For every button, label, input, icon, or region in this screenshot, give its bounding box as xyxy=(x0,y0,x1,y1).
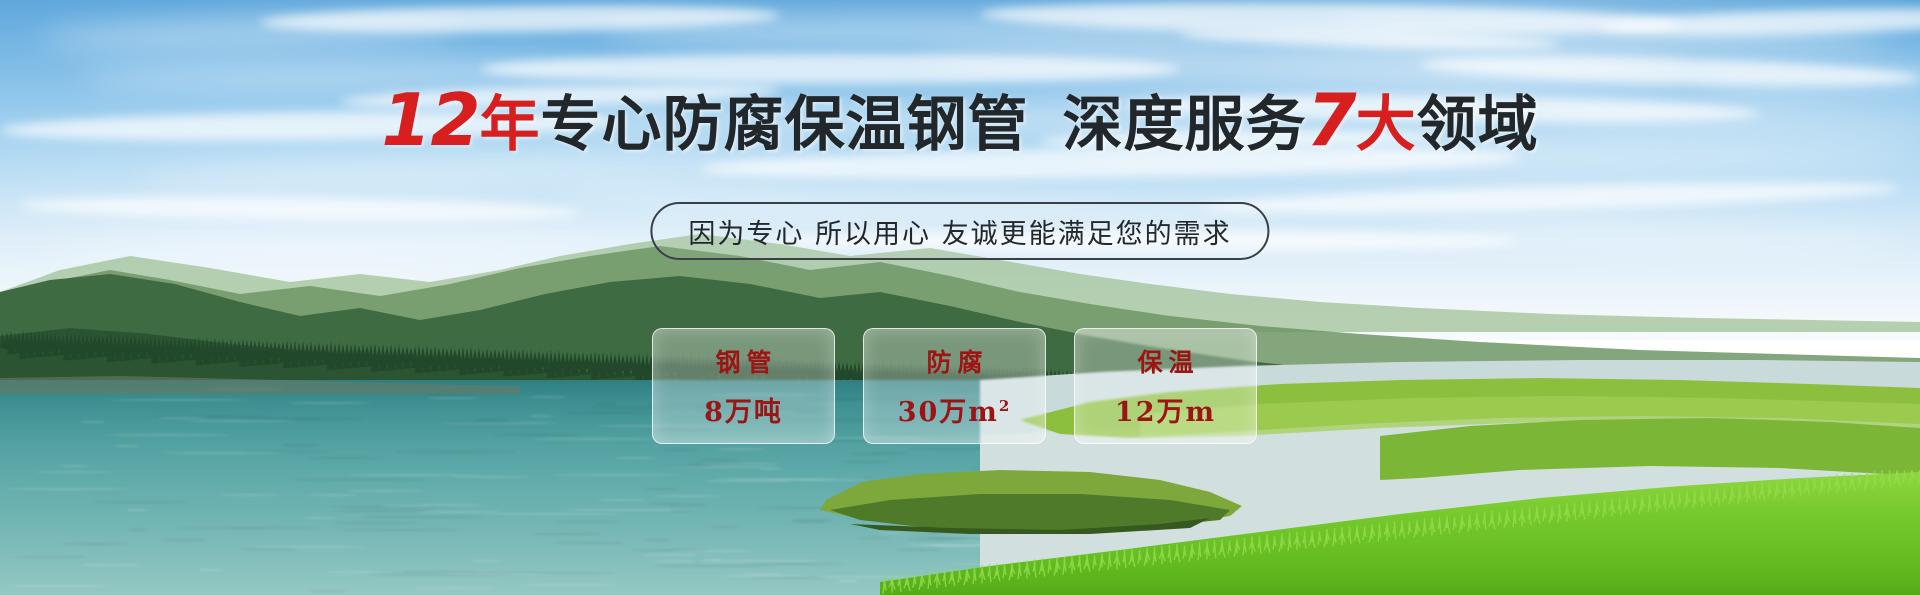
water-ripple xyxy=(653,560,694,562)
stat-label: 保温 xyxy=(1131,343,1199,379)
stat-value-main: 8万吨 xyxy=(704,397,783,428)
water-ripple xyxy=(158,417,208,419)
water-ripple xyxy=(81,564,141,566)
stat-value: 8万吨 xyxy=(704,390,783,429)
water-ripple xyxy=(107,399,248,401)
stat-card-group: 钢管 8万吨 防腐 30万m2 保温 12万m xyxy=(652,328,1257,444)
water-ripple xyxy=(689,463,746,465)
water-ripple xyxy=(653,565,770,567)
left-shoreline xyxy=(0,372,520,394)
water-ripple xyxy=(488,513,619,515)
water-ripple xyxy=(415,511,503,513)
water-ripple xyxy=(644,488,679,490)
water-ripple xyxy=(176,527,321,529)
water-ripple xyxy=(836,580,859,582)
water-ripple xyxy=(310,590,347,592)
stat-value-main: 30万m xyxy=(898,397,999,428)
water-ripple xyxy=(163,452,291,454)
stat-card-steel-pipe[interactable]: 钢管 8万吨 xyxy=(652,328,835,444)
water-ripple xyxy=(614,457,654,459)
water-ripple xyxy=(8,585,109,587)
water-ripple xyxy=(246,546,366,548)
water-ripple xyxy=(474,419,509,421)
water-ripple xyxy=(184,420,296,422)
water-ripple xyxy=(288,402,371,404)
water-ripple xyxy=(105,434,229,436)
water-ripple xyxy=(81,421,105,423)
water-ripple xyxy=(702,559,724,561)
water-ripple xyxy=(345,490,424,492)
water-ripple xyxy=(411,587,497,589)
water-ripple xyxy=(381,505,433,507)
water-ripple xyxy=(160,539,207,541)
water-ripple xyxy=(697,459,741,461)
subtitle-text: 因为专心 所以用心 友诚更能满足您的需求 xyxy=(688,212,1231,251)
water-ripple xyxy=(644,539,671,541)
water-ripple xyxy=(527,396,567,398)
water-ripple xyxy=(711,526,739,528)
water-ripple xyxy=(841,461,891,463)
water-ripple xyxy=(554,521,621,523)
water-ripple xyxy=(759,468,784,470)
water-ripple xyxy=(363,516,485,518)
water-ripple xyxy=(722,575,809,577)
water-ripple xyxy=(198,569,224,571)
water-ripple xyxy=(62,543,129,545)
water-ripple xyxy=(553,542,625,544)
water-ripple xyxy=(114,445,139,447)
water-ripple xyxy=(325,571,408,573)
headline-segment-4: 深度服务 xyxy=(1063,90,1307,160)
water-ripple xyxy=(449,421,520,423)
water-ripple xyxy=(552,474,683,476)
grass-blade-texture xyxy=(880,470,1920,595)
stat-label: 防腐 xyxy=(920,343,988,379)
water-ripple xyxy=(471,560,500,562)
water-ripple xyxy=(332,522,418,524)
water-ripple xyxy=(93,501,188,503)
water-ripple xyxy=(749,577,826,579)
water-ripple xyxy=(219,494,280,496)
water-ripple xyxy=(290,479,428,481)
water-ripple xyxy=(532,438,656,440)
water-ripple xyxy=(239,418,363,420)
stat-value-main: 12万m xyxy=(1115,397,1216,428)
water-ripple xyxy=(366,574,513,576)
water-ripple xyxy=(653,495,721,497)
water-ripple xyxy=(561,509,697,511)
stat-value-superscript: 2 xyxy=(999,397,1011,415)
water-ripple xyxy=(304,517,336,519)
headline-segment-2: 专心防腐保温钢管 xyxy=(541,90,1029,160)
water-ripple xyxy=(530,533,602,535)
water-ripple xyxy=(662,449,699,451)
stat-value: 30万m2 xyxy=(898,390,1012,429)
headline-segment-1: 年 xyxy=(480,90,541,160)
water-ripple xyxy=(14,556,85,558)
water-ripple xyxy=(306,457,384,459)
water-ripple xyxy=(427,397,479,399)
water-ripple xyxy=(596,403,617,405)
water-ripple xyxy=(741,563,843,565)
water-ripple xyxy=(528,415,553,417)
water-ripple xyxy=(282,444,321,446)
headline-segment-6: 大 xyxy=(1356,90,1417,160)
stat-value: 12万m xyxy=(1115,390,1216,429)
water-ripple xyxy=(567,412,666,414)
water-ripple xyxy=(597,499,645,501)
water-ripple xyxy=(35,471,112,473)
stat-card-insulation[interactable]: 保温 12万m xyxy=(1074,328,1257,444)
stat-label: 钢管 xyxy=(709,343,777,379)
water-ripple xyxy=(492,434,580,436)
headline-segment-5: 7 xyxy=(1307,78,1356,162)
water-ripple xyxy=(871,452,908,454)
water-ripple xyxy=(59,465,89,467)
water-ripple xyxy=(631,549,709,551)
water-ripple xyxy=(668,504,708,506)
headline-segment-0: 12 xyxy=(381,78,479,162)
water-ripple xyxy=(307,494,358,496)
headline-segment-7: 领域 xyxy=(1417,90,1539,160)
water-ripple xyxy=(641,554,698,556)
water-ripple xyxy=(520,584,619,586)
subtitle-pill: 因为专心 所以用心 友诚更能满足您的需求 xyxy=(650,202,1269,260)
page-title: 12年专心防腐保温钢管深度服务7大领域 xyxy=(0,84,1920,156)
stat-card-anticorrosion[interactable]: 防腐 30万m2 xyxy=(863,328,1046,444)
water-ripple xyxy=(241,548,299,550)
water-ripple xyxy=(126,509,148,511)
water-ripple xyxy=(717,448,765,450)
water-ripple xyxy=(5,488,129,490)
hero-banner: 12年专心防腐保温钢管深度服务7大领域 因为专心 所以用心 友诚更能满足您的需求… xyxy=(0,0,1920,595)
water-ripple xyxy=(336,529,465,531)
water-ripple xyxy=(395,451,516,453)
water-ripple xyxy=(449,476,531,478)
